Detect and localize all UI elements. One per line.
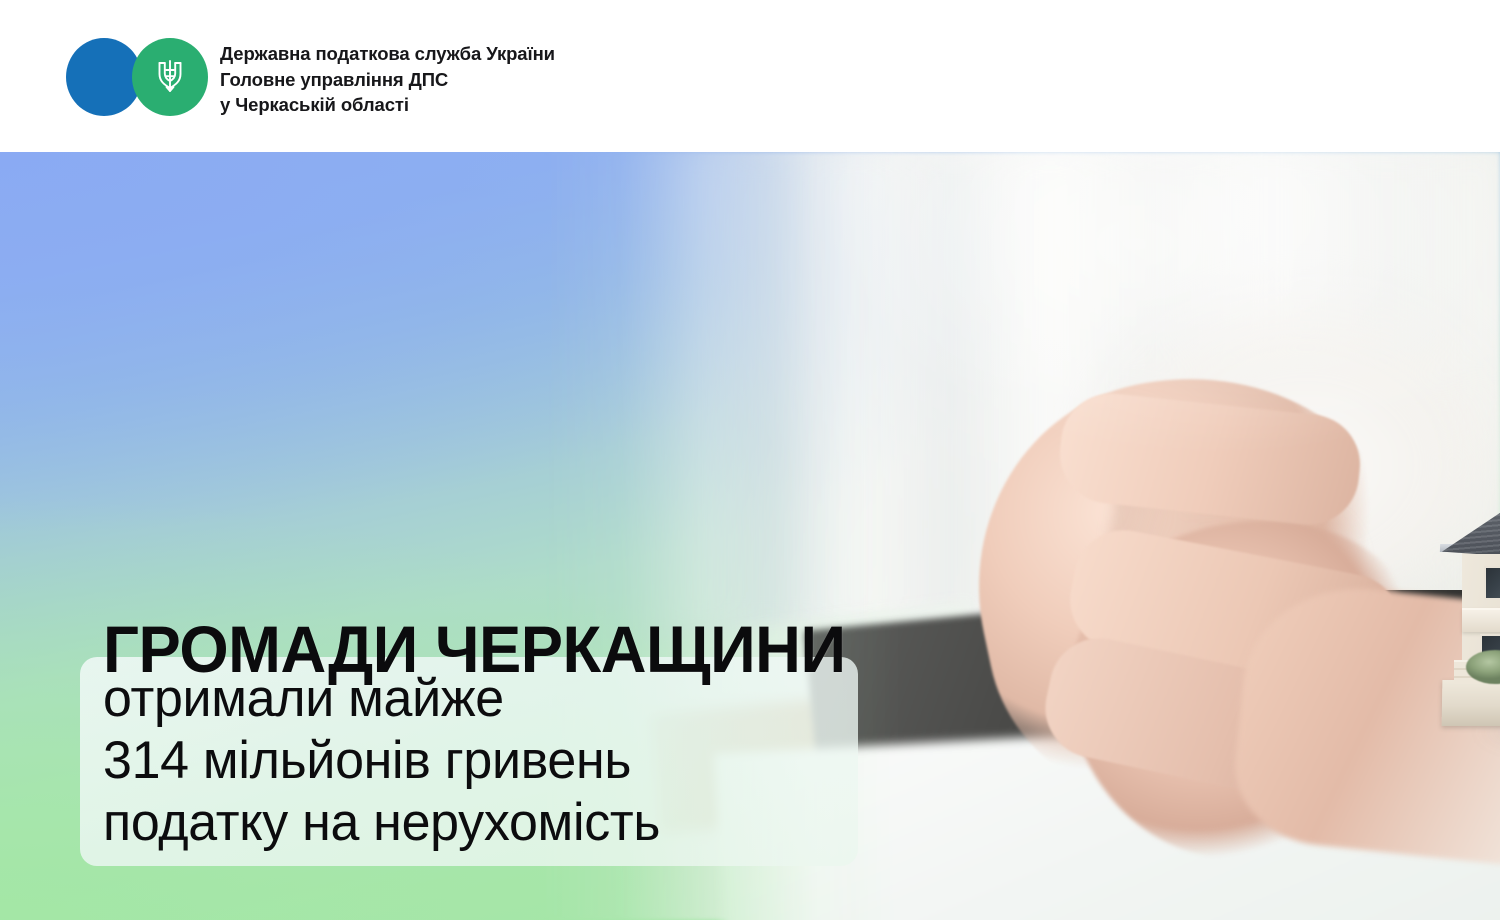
subhead-line-2: 314 мільйонів гривень [103,730,660,792]
poster: ГРОМАДИ ЧЕРКАЩИНИ отримали майже 314 міл… [0,0,1500,920]
org-line-2: Головне управління ДПС [220,67,555,93]
hand [770,292,1500,912]
header-band: Державна податкова служба України Головн… [0,0,1500,152]
organization-name: Державна податкова служба України Головн… [220,41,555,118]
logo [66,38,202,116]
subhead-line-3: податку на нерухомість [103,792,660,854]
org-line-1: Державна податкова служба України [220,41,555,67]
model-base-plot [1442,680,1500,726]
subhead-line-1: отримали майже [103,668,660,730]
subhead-block: отримали майже 314 мільйонів гривень под… [103,668,660,854]
logo-blue-circle [66,38,142,116]
ukraine-trident-icon [132,38,208,116]
window-upper-left [1484,566,1500,600]
balcony [1462,608,1500,632]
house-model [1440,482,1500,742]
artwork-canvas: ГРОМАДИ ЧЕРКАЩИНИ отримали майже 314 міл… [0,152,1500,920]
org-line-3: у Черкаській області [220,92,555,118]
